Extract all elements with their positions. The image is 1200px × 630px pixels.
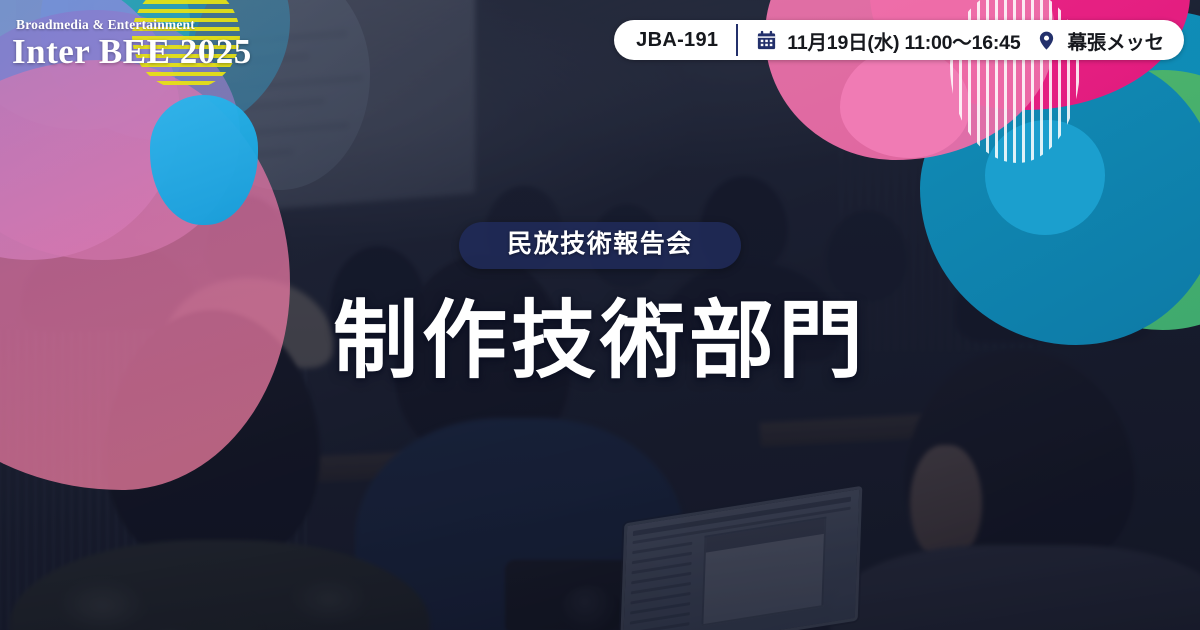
session-code: JBA-191	[636, 29, 736, 52]
session-datetime-group: 11月19日(水) 11:00〜16:45	[738, 26, 1020, 55]
logo-wordmark: Inter BEE 2025	[12, 33, 252, 71]
logo-tagline: Broadmedia & Entertainment	[12, 18, 252, 32]
inter-bee-logo[interactable]: Broadmedia & Entertainment Inter BEE 202…	[12, 18, 252, 70]
session-info-bar: JBA-191 11月19日(水) 11:00〜16:45	[614, 20, 1184, 60]
event-banner: Broadmedia & Entertainment Inter BEE 202…	[0, 0, 1200, 630]
calendar-icon	[755, 29, 778, 52]
category-badge: 民放技術報告会	[459, 222, 741, 269]
session-venue-group: 幕張メッセ	[1020, 26, 1164, 55]
page-title: 制作技術部門	[333, 296, 867, 388]
session-venue: 幕張メッセ	[1057, 26, 1164, 55]
session-datetime: 11月19日(水) 11:00〜16:45	[778, 26, 1020, 55]
category-badge-label: 民放技術報告会	[507, 232, 693, 257]
map-pin-icon	[1036, 29, 1057, 52]
